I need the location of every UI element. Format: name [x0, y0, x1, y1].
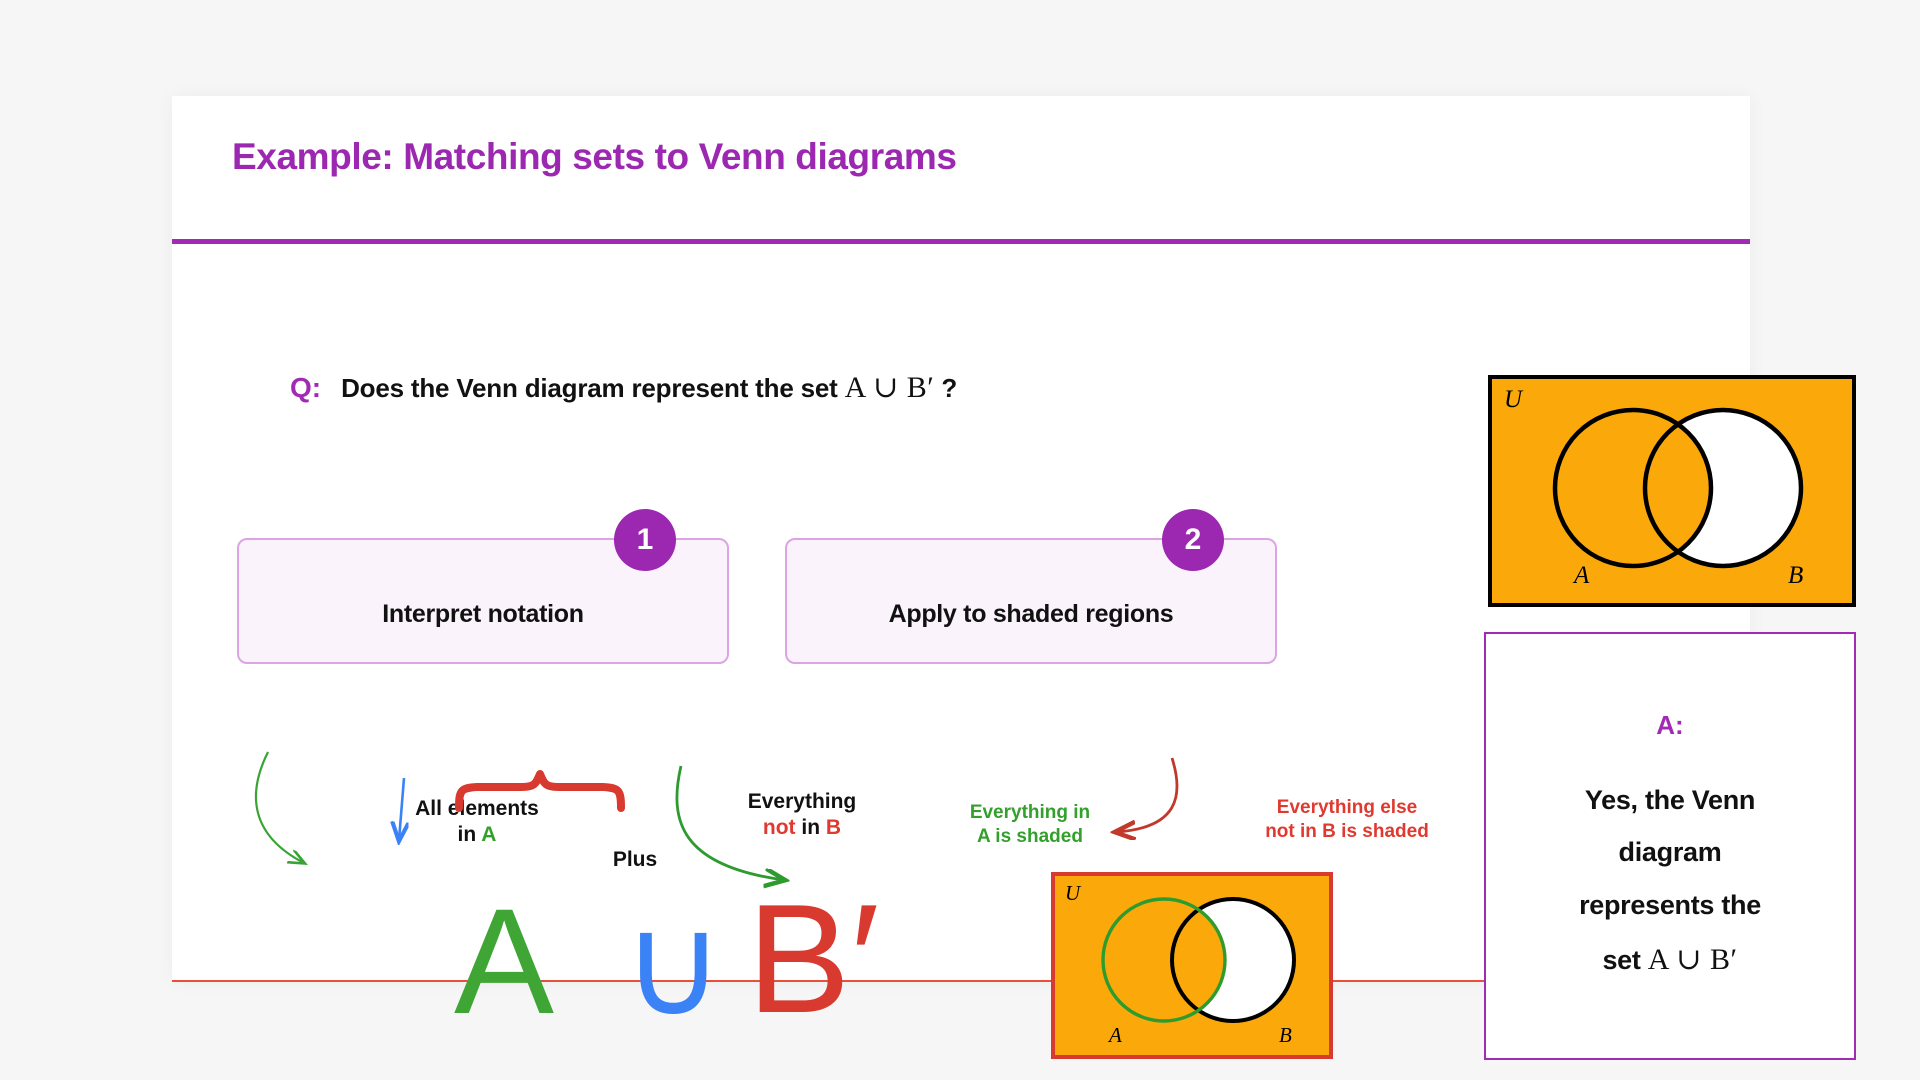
- annotation-plus: Plus: [590, 847, 680, 873]
- answer-line-1: Yes, the Venn: [1585, 785, 1755, 815]
- anno-b-term: B: [826, 816, 841, 839]
- anno-left-line2: A is shaded: [977, 826, 1083, 847]
- answer-line-3: represents the: [1579, 890, 1761, 920]
- big-union-symbol: ∪: [622, 896, 724, 1036]
- anno-right-line1: Everything else: [1277, 797, 1417, 818]
- venn-label-b: B: [1788, 562, 1803, 589]
- anno-left-line1: Everything in: [970, 802, 1090, 823]
- step-2-badge: 2: [1162, 509, 1224, 571]
- annotation-not-in-b-is-shaded: Everything else not in B is shaded: [1237, 796, 1457, 843]
- page-title: Example: Matching sets to Venn diagrams: [232, 136, 957, 178]
- annotation-a-is-shaded: Everything in A is shaded: [940, 801, 1120, 848]
- title-divider: [172, 239, 1750, 244]
- arrow-a-annotation: [256, 752, 304, 863]
- anno-a-line1: All elements: [415, 797, 539, 820]
- slide-stage: Example: Matching sets to Venn diagrams …: [0, 0, 1920, 1080]
- anno-right-line2: not in B is shaded: [1265, 821, 1429, 842]
- venn-label-a: A: [1572, 562, 1590, 589]
- anno-b-not: not: [763, 816, 796, 839]
- big-letter-a: A: [454, 886, 554, 1036]
- anno-b-mid: in: [796, 816, 826, 839]
- anno-a-term: A: [481, 823, 496, 846]
- question-prompt: Does the Venn diagram represent the set: [341, 373, 837, 403]
- answer-text: Yes, the Venn diagram represents the set…: [1512, 774, 1828, 989]
- arrow-b-complement-shaded: [1116, 758, 1177, 832]
- question-tag: Q:: [290, 372, 321, 404]
- big-letter-b-prime: B′: [747, 881, 879, 1036]
- anno-b-line1: Everything: [748, 790, 857, 813]
- slide-card: Example: Matching sets to Venn diagrams …: [172, 96, 1750, 982]
- answer-line-2: diagram: [1619, 837, 1722, 867]
- step-2-label: Apply to shaded regions: [787, 600, 1275, 629]
- step-1-badge: 1: [614, 509, 676, 571]
- venn2-label-universe: U: [1065, 881, 1082, 905]
- answer-line-4-prefix: set: [1602, 945, 1647, 975]
- venn-label-universe: U: [1504, 386, 1524, 413]
- answer-box: A: Yes, the Venn diagram represents the …: [1484, 632, 1856, 1060]
- annotation-all-elements-in-a: All elements in A: [377, 796, 577, 848]
- venn2-label-a: A: [1107, 1023, 1122, 1047]
- question-text: Does the Venn diagram represent the set …: [341, 370, 957, 405]
- venn-diagram-step2: U A B: [1051, 872, 1333, 1059]
- question-suffix: ?: [941, 373, 957, 403]
- question-row: Q: Does the Venn diagram represent the s…: [290, 370, 957, 405]
- venn-diagram-answer: U A B: [1488, 375, 1856, 607]
- answer-line-4-math: A ∪ B′: [1648, 943, 1738, 976]
- answer-tag: A:: [1486, 710, 1854, 741]
- step-1-label: Interpret notation: [239, 600, 727, 629]
- anno-a-line2-prefix: in: [458, 823, 482, 846]
- venn2-label-b: B: [1279, 1023, 1292, 1047]
- question-math: A ∪ B′: [845, 371, 935, 404]
- annotation-everything-not-in-b: Everything not in B: [712, 789, 892, 841]
